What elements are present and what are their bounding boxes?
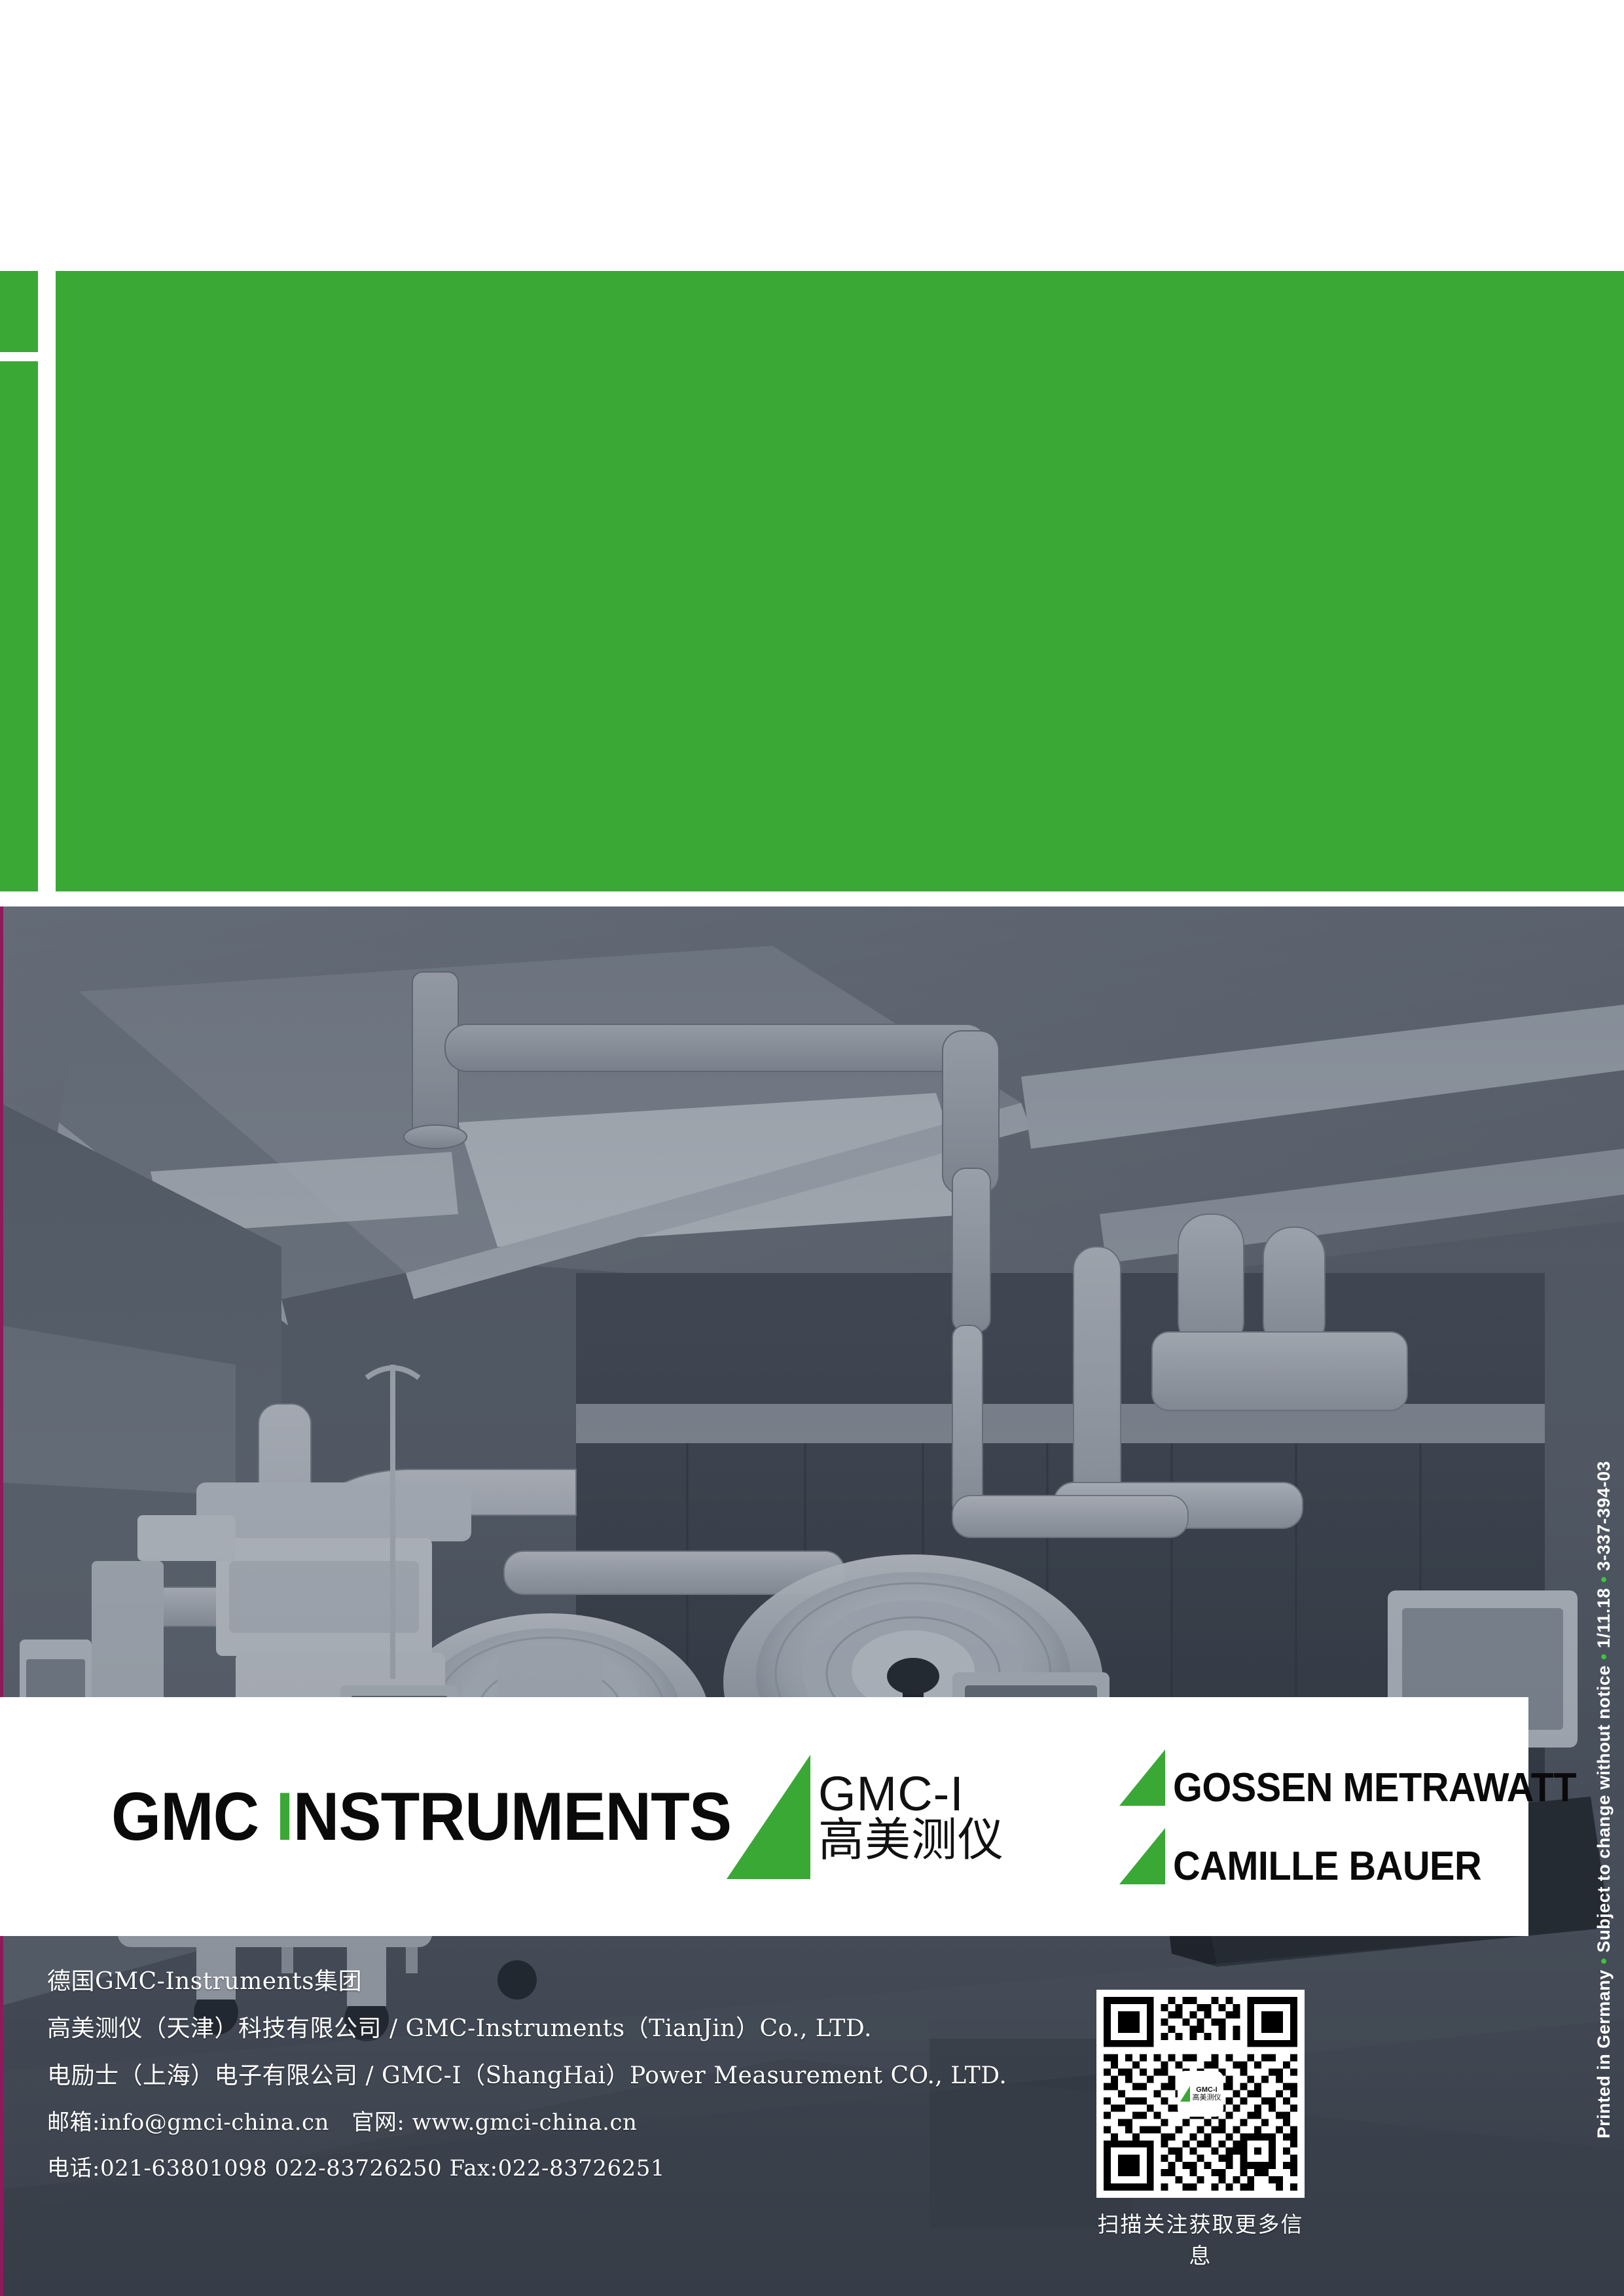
- imprint-seg-printed: Printed in Germany: [1594, 1970, 1614, 2139]
- qr-code-block: GMC-I 高美测仪 扫描关注获取更多信息: [1096, 1990, 1305, 2270]
- imprint-text: Printed in Germany • Subject to change w…: [1594, 1461, 1614, 2138]
- camille-bauer-logo: CAMILLE BAUER: [1119, 1828, 1607, 1884]
- green-triangle-icon: [727, 1755, 812, 1879]
- gossen-metrawatt-logo: GOSSEN METRAWATT: [1119, 1749, 1607, 1806]
- green-triangle-icon: [1119, 1749, 1166, 1806]
- camille-bauer-label: CAMILLE BAUER: [1173, 1849, 1481, 1884]
- green-edge-strip-top: [0, 271, 38, 352]
- contact-block: 德国GMC-Instruments集团 高美测仪（天津）科技有限公司 / GMC…: [47, 1970, 1007, 2179]
- gmc-instruments-wordmark: GMC INSTRUMENTS: [111, 1783, 731, 1851]
- gmc-instruments-part2: NSTRUMENTS: [293, 1779, 731, 1855]
- logo-band: GMC INSTRUMENTS GMC-I 高美测仪 GOSSEN METRAW…: [0, 1697, 1528, 1936]
- print-registration-edge: [0, 906, 3, 2296]
- imprint-separator: •: [1594, 1654, 1614, 1660]
- qr-center-logo: GMC-I 高美测仪: [1179, 2072, 1222, 2115]
- contact-line-tianjin: 高美测仪（天津）科技有限公司 / GMC-Instruments（TianJin…: [47, 2017, 1007, 2041]
- green-edge-strip-bottom: [0, 361, 38, 891]
- green-banner-panel: [56, 271, 1624, 891]
- partner-brand-logos: GOSSEN METRAWATT CAMILLE BAUER: [1119, 1749, 1607, 1884]
- gmc-instruments-accent-letter: I: [276, 1779, 293, 1855]
- gmc-i-chinese-label: 高美测仪: [818, 1818, 1004, 1863]
- green-triangle-icon: [1119, 1828, 1166, 1884]
- imprint-strip: Printed in Germany • Subject to change w…: [1589, 1545, 1619, 2055]
- imprint-separator: •: [1594, 1958, 1614, 1965]
- imprint-seg-subject: Subject to change without notice: [1594, 1666, 1614, 1953]
- gmc-i-latin-label: GMC-I: [818, 1770, 1004, 1818]
- gmc-i-logo: GMC-I 高美测仪: [727, 1755, 1004, 1879]
- contact-line-email-web: 邮箱:info@gmci-china.cn 官网: www.gmci-china…: [47, 2111, 1007, 2134]
- top-white-margin: [0, 0, 1624, 271]
- imprint-seg-version: 1/11.18: [1594, 1588, 1614, 1648]
- green-triangle-icon: [1180, 2086, 1191, 2102]
- imprint-seg-partnumber: 3-337-394-03: [1594, 1461, 1614, 1571]
- qr-code-image[interactable]: GMC-I 高美测仪: [1096, 1990, 1305, 2198]
- gossen-metrawatt-label: GOSSEN METRAWATT: [1173, 1770, 1576, 1805]
- contact-line-phone-fax: 电话:021-63801098 022-83726250 Fax:022-837…: [47, 2157, 1007, 2179]
- imprint-separator: •: [1594, 1577, 1614, 1583]
- brochure-back-cover: GMC INSTRUMENTS GMC-I 高美测仪 GOSSEN METRAW…: [0, 0, 1624, 2296]
- qr-caption: 扫描关注获取更多信息: [1096, 2207, 1305, 2270]
- qr-center-chinese: 高美测仪: [1193, 2094, 1221, 2101]
- contact-line-group: 德国GMC-Instruments集团: [47, 1970, 1007, 1994]
- contact-line-shanghai: 电励士（上海）电子有限公司 / GMC-I（ShangHai）Power Mea…: [47, 2064, 1007, 2088]
- banner-photo-gutter: [0, 891, 1624, 906]
- gmc-instruments-part1: GMC: [111, 1779, 276, 1855]
